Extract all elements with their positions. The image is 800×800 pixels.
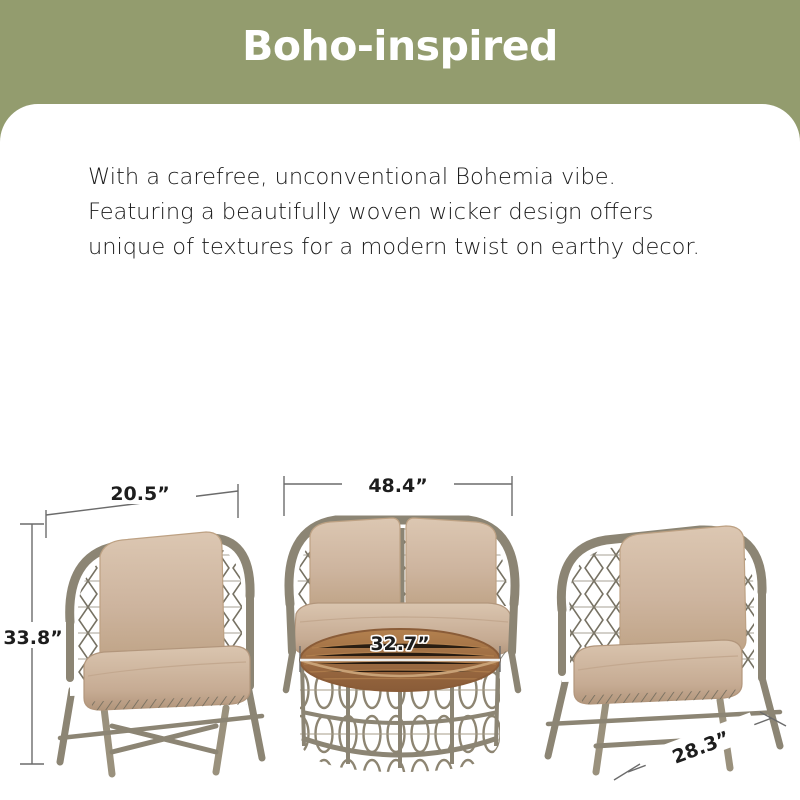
content-panel: With a carefree, unconventional Bohemia …	[0, 104, 800, 800]
body-copy: With a carefree, unconventional Bohemia …	[88, 160, 728, 265]
body-copy-line-2: Featuring a beautifully woven wicker des…	[88, 195, 728, 230]
dimension-chair-height: 33.8”	[0, 524, 66, 764]
dimension-chair-depth: 28.3”	[614, 712, 786, 780]
left-armchair	[60, 532, 262, 774]
dimension-chair-width-label: 20.5”	[110, 483, 169, 505]
product-scene: 20.5” 33.8”	[0, 360, 800, 800]
body-copy-line-1: With a carefree, unconventional Bohemia …	[88, 160, 728, 195]
product-feature-image: Boho-inspired With a carefree, unconvent…	[0, 0, 800, 800]
dimension-table-diameter-label: 32.7”	[370, 633, 429, 655]
dimension-chair-height-label: 33.8”	[3, 627, 62, 649]
page-title: Boho-inspired	[0, 22, 800, 70]
dimension-chair-width: 20.5”	[46, 478, 238, 538]
dimension-loveseat-width-label: 48.4”	[368, 475, 427, 497]
body-copy-line-3: unique of textures for a modern twist on…	[88, 230, 728, 265]
dimension-loveseat-width: 48.4”	[284, 470, 512, 516]
